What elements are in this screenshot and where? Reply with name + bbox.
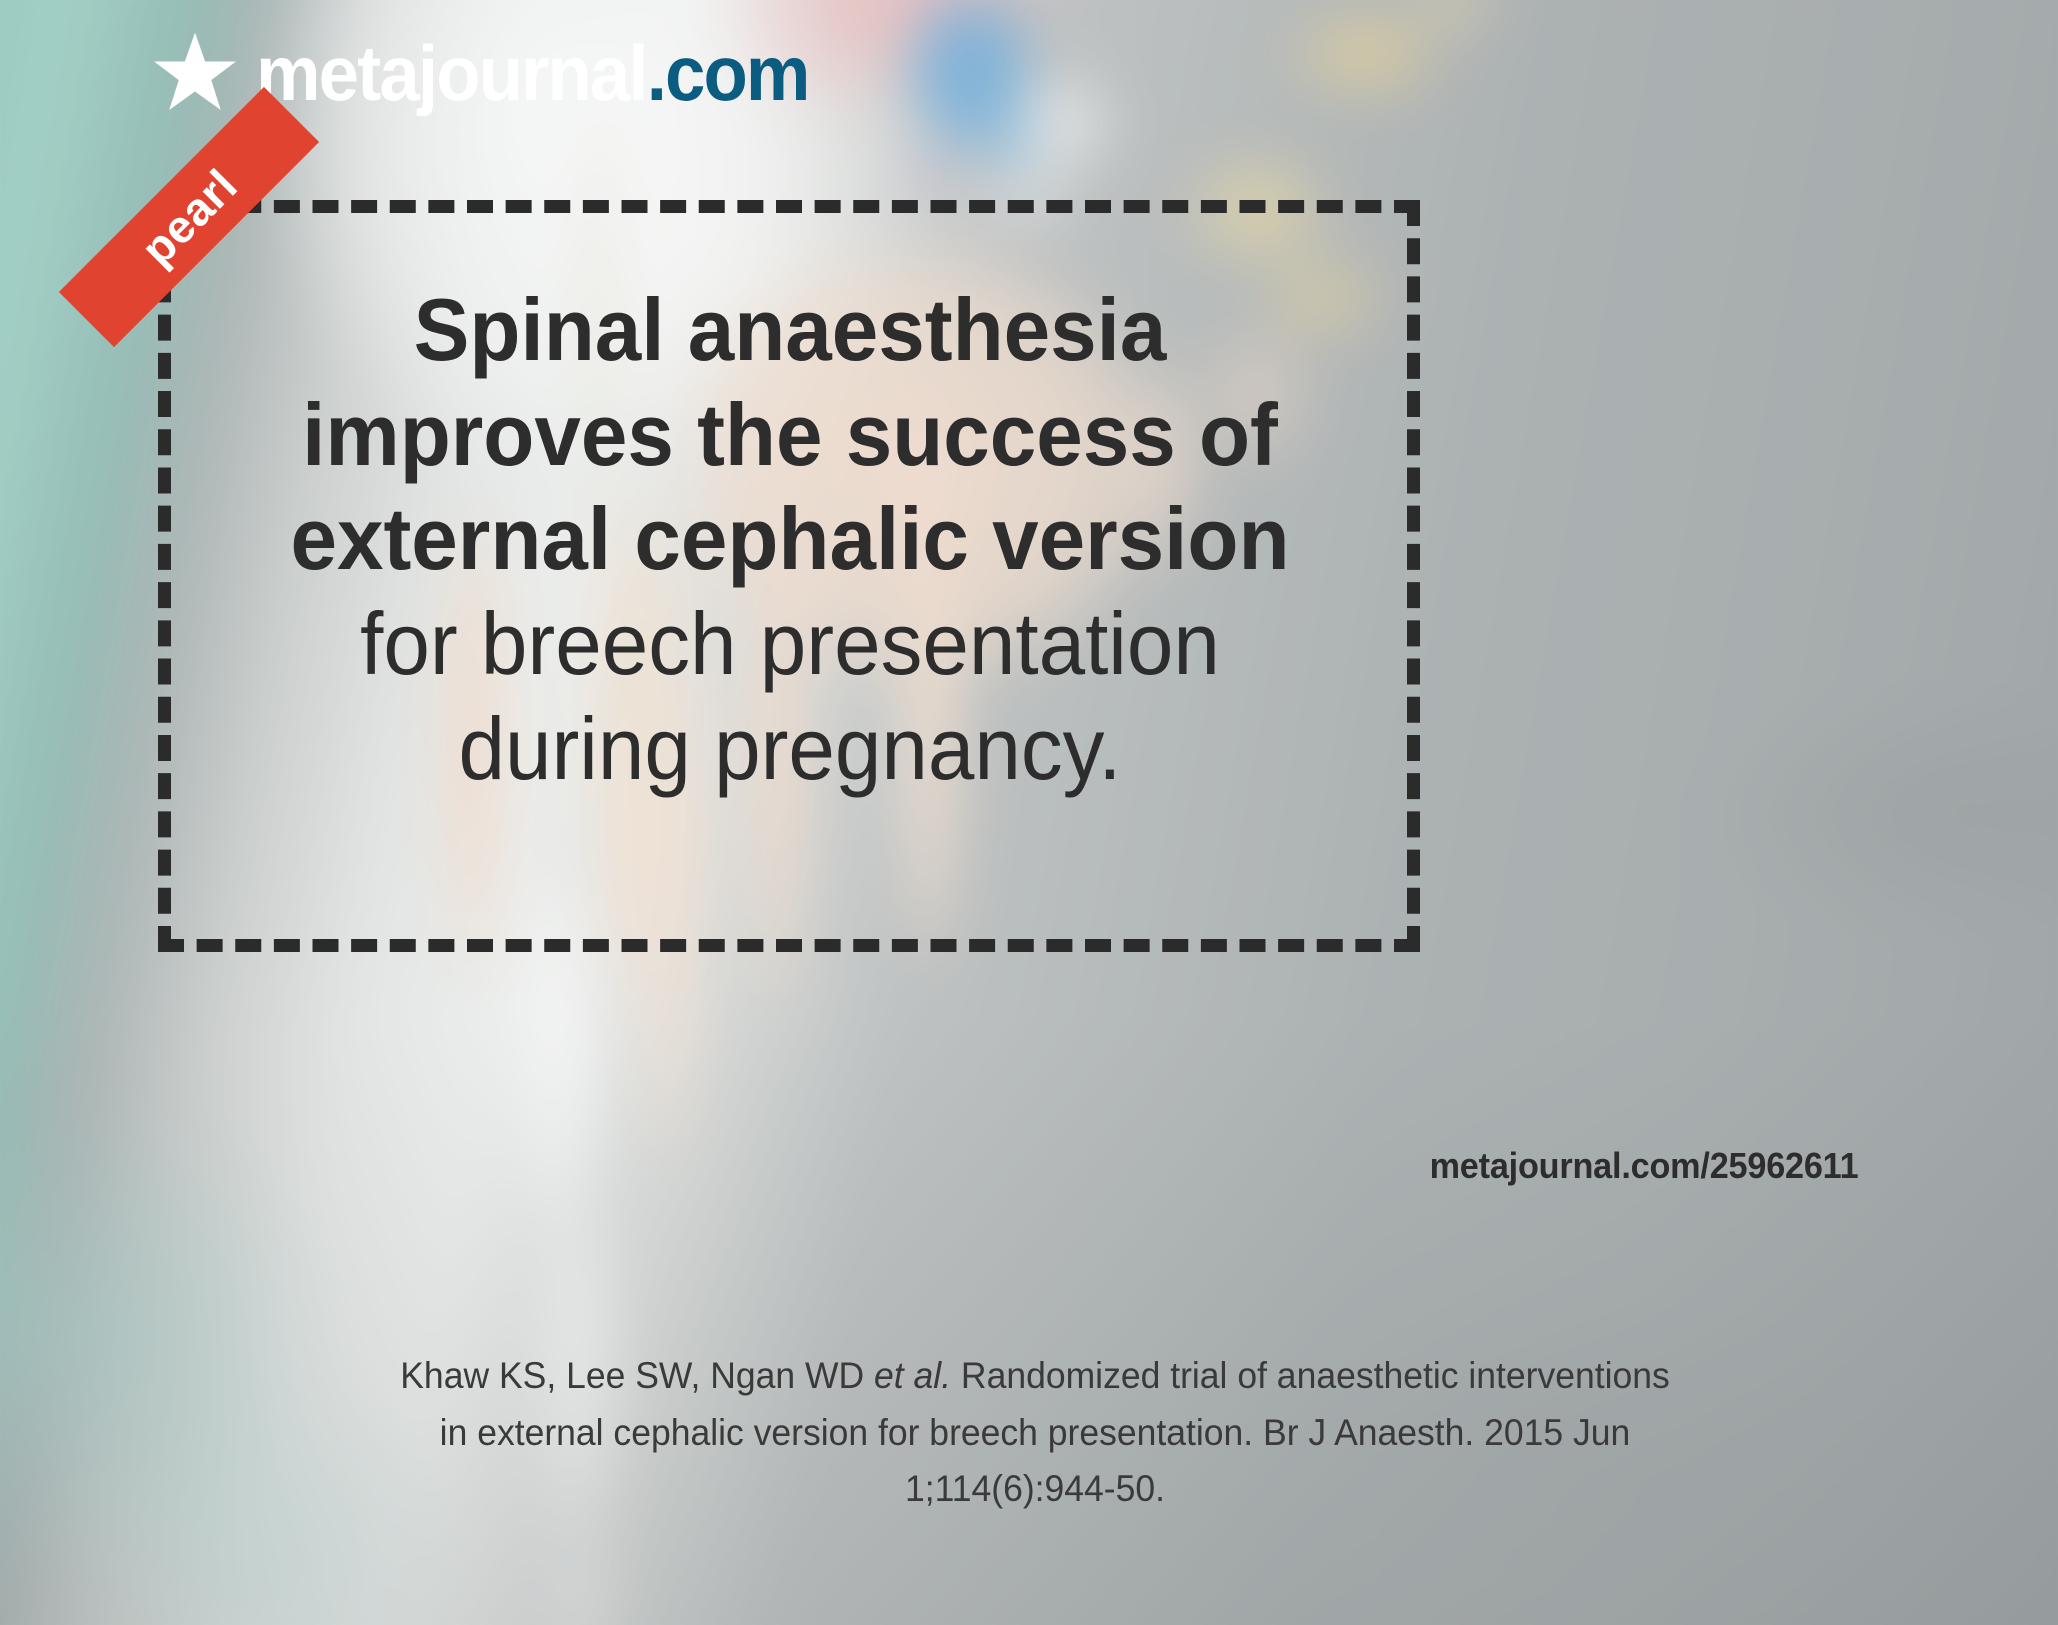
citation-line-1: Khaw KS, Lee SW, Ngan WD et al. Randomiz… [176, 1348, 1894, 1405]
logo-wordmark: metajournal.com [256, 34, 809, 112]
logo-tld: .com [647, 29, 809, 117]
citation-block: Khaw KS, Lee SW, Ngan WD et al. Randomiz… [176, 1348, 1894, 1518]
logo-name: metajournal [256, 29, 647, 117]
citation-authors: Khaw KS, Lee SW, Ngan WD [400, 1355, 874, 1396]
citation-line-3: 1;114(6):944-50. [176, 1461, 1894, 1518]
star-icon [152, 30, 238, 116]
permalink-url[interactable]: metajournal.com/25962611 [1429, 1145, 1858, 1187]
citation-title-part: Randomized trial of anaesthetic interven… [951, 1355, 1670, 1396]
headline-line-4: for breech presentation [239, 592, 1341, 697]
citation-et-al: et al. [874, 1355, 951, 1396]
headline-line-3: external cephalic version [239, 487, 1341, 592]
pearl-card: metajournal.com pearl Spinal anaesthesia… [0, 0, 2058, 1625]
headline-line-1: Spinal anaesthesia [239, 278, 1341, 383]
citation-line-2: in external cephalic version for breech … [176, 1405, 1894, 1462]
headline-line-5: during pregnancy. [239, 697, 1341, 802]
pearl-headline: Spinal anaesthesia improves the success … [239, 278, 1341, 802]
headline-line-2: improves the success of [239, 383, 1341, 488]
